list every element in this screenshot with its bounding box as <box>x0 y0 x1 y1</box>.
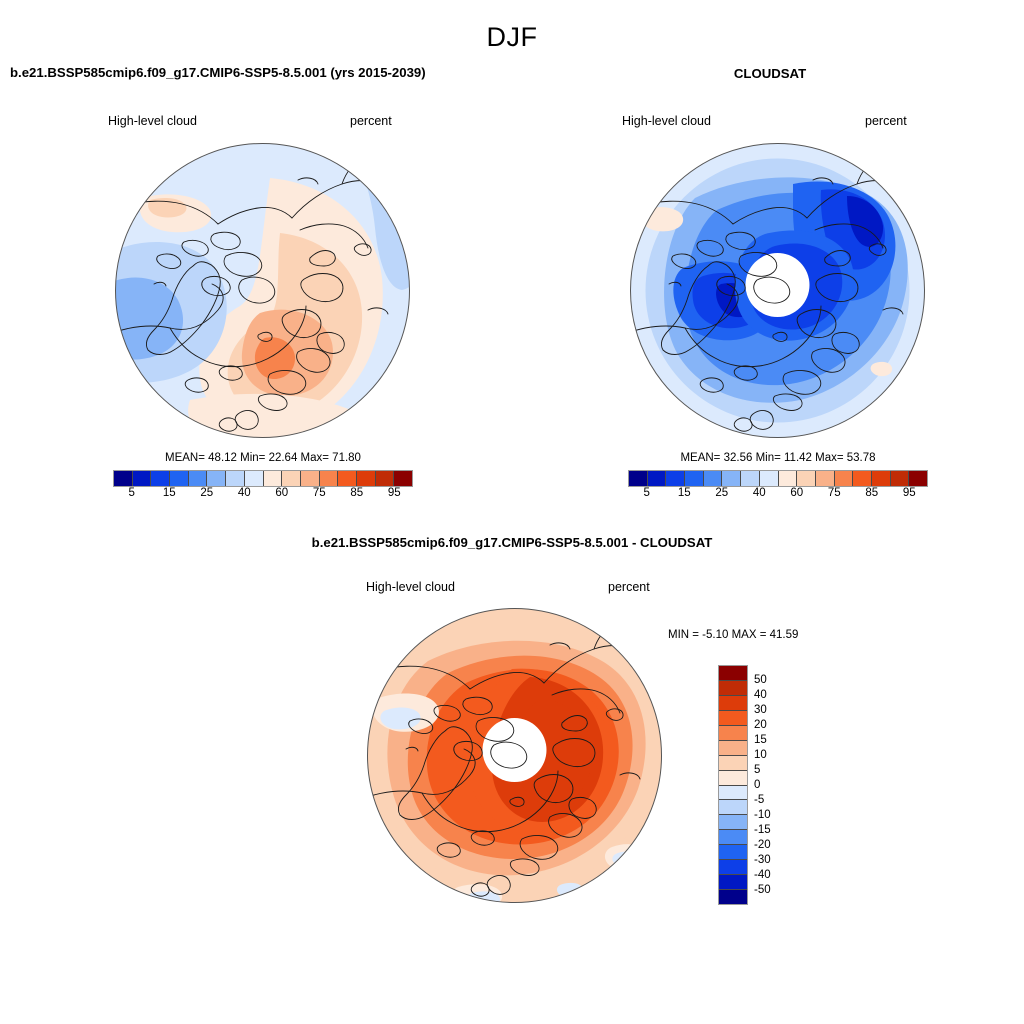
obs-colorbar: 515254060758595 <box>628 470 928 505</box>
model-panel-title: b.e21.BSSP585cmip6.f09_g17.CMIP6-SSP5-8.… <box>10 65 426 80</box>
colorbar-segment <box>170 471 189 486</box>
difference-colorbar-strip <box>718 665 748 905</box>
colorbar-tick-label: -20 <box>754 839 771 851</box>
colorbar-tick-label: 5 <box>754 764 760 776</box>
obs-stats: MEAN= 32.56 Min= 11.42 Max= 53.78 <box>628 452 928 464</box>
model-variable-label: High-level cloud <box>108 114 197 128</box>
colorbar-segment <box>151 471 170 486</box>
colorbar-tick-label: 15 <box>163 487 176 499</box>
colorbar-segment <box>719 771 747 786</box>
colorbar-segment <box>835 471 854 486</box>
colorbar-segment <box>719 741 747 756</box>
colorbar-segment <box>719 666 747 681</box>
colorbar-segment <box>394 471 412 486</box>
colorbar-segment <box>245 471 264 486</box>
colorbar-tick-label: 25 <box>200 487 213 499</box>
colorbar-segment <box>719 875 747 890</box>
colorbar-segment <box>719 845 747 860</box>
colorbar-segment <box>719 786 747 801</box>
colorbar-segment <box>779 471 798 486</box>
colorbar-tick-label: 95 <box>388 487 401 499</box>
colorbar-segment <box>872 471 891 486</box>
colorbar-segment <box>719 815 747 830</box>
colorbar-segment <box>629 471 648 486</box>
difference-stats: MIN = -5.10 MAX = 41.59 <box>668 629 798 641</box>
colorbar-tick-label: 95 <box>903 487 916 499</box>
obs-units-label: percent <box>865 114 907 128</box>
colorbar-segment <box>719 756 747 771</box>
colorbar-segment <box>666 471 685 486</box>
colorbar-tick-label: 75 <box>828 487 841 499</box>
colorbar-segment <box>719 800 747 815</box>
colorbar-tick-label: 50 <box>754 674 767 686</box>
difference-panel-title: b.e21.BSSP585cmip6.f09_g17.CMIP6-SSP5-8.… <box>0 535 1024 550</box>
colorbar-segment <box>719 890 747 904</box>
colorbar-segment <box>909 471 927 486</box>
difference-colorbar-ticks: 50403020151050-5-10-15-20-30-40-50 <box>754 665 814 905</box>
colorbar-segment <box>301 471 320 486</box>
model-colorbar: 515254060758595 <box>113 470 413 505</box>
season-title: DJF <box>0 22 1024 53</box>
model-colorbar-strip <box>113 470 413 487</box>
model-stats: MEAN= 48.12 Min= 22.64 Max= 71.80 <box>113 452 413 464</box>
colorbar-tick-label: 0 <box>754 779 760 791</box>
difference-colorbar: 50403020151050-5-10-15-20-30-40-50 <box>718 665 748 905</box>
colorbar-segment <box>797 471 816 486</box>
colorbar-tick-label: 60 <box>790 487 803 499</box>
colorbar-segment <box>722 471 741 486</box>
colorbar-segment <box>741 471 760 486</box>
colorbar-tick-label: 40 <box>753 487 766 499</box>
colorbar-tick-label: 40 <box>754 689 767 701</box>
colorbar-tick-label: 25 <box>715 487 728 499</box>
model-polar-map <box>110 138 415 443</box>
colorbar-segment <box>685 471 704 486</box>
obs-panel-title: CLOUDSAT <box>620 66 920 81</box>
colorbar-segment <box>704 471 723 486</box>
colorbar-tick-label: 40 <box>238 487 251 499</box>
colorbar-segment <box>719 711 747 726</box>
obs-colorbar-ticks: 515254060758595 <box>628 487 928 505</box>
colorbar-tick-label: 60 <box>275 487 288 499</box>
model-colorbar-ticks: 515254060758595 <box>113 487 413 505</box>
colorbar-segment <box>760 471 779 486</box>
colorbar-segment <box>719 726 747 741</box>
colorbar-tick-label: 5 <box>644 487 650 499</box>
obs-colorbar-strip <box>628 470 928 487</box>
colorbar-segment <box>320 471 339 486</box>
colorbar-segment <box>376 471 395 486</box>
colorbar-tick-label: -40 <box>754 869 771 881</box>
obs-variable-label: High-level cloud <box>622 114 711 128</box>
colorbar-segment <box>114 471 133 486</box>
colorbar-segment <box>648 471 667 486</box>
colorbar-segment <box>338 471 357 486</box>
colorbar-tick-label: 15 <box>754 734 767 746</box>
colorbar-tick-label: -50 <box>754 884 771 896</box>
colorbar-segment <box>264 471 283 486</box>
obs-polar-map <box>625 138 930 443</box>
colorbar-tick-label: -30 <box>754 854 771 866</box>
model-units-label: percent <box>350 114 392 128</box>
colorbar-tick-label: 85 <box>350 487 363 499</box>
difference-variable-label: High-level cloud <box>366 580 455 594</box>
colorbar-tick-label: 15 <box>678 487 691 499</box>
colorbar-segment <box>719 696 747 711</box>
colorbar-segment <box>719 830 747 845</box>
colorbar-segment <box>719 860 747 875</box>
colorbar-segment <box>357 471 376 486</box>
difference-polar-map <box>362 603 667 908</box>
colorbar-segment <box>282 471 301 486</box>
colorbar-tick-label: 10 <box>754 749 767 761</box>
colorbar-segment <box>207 471 226 486</box>
colorbar-segment <box>189 471 208 486</box>
colorbar-tick-label: 30 <box>754 704 767 716</box>
colorbar-tick-label: 85 <box>865 487 878 499</box>
colorbar-tick-label: 20 <box>754 719 767 731</box>
difference-units-label: percent <box>608 580 650 594</box>
colorbar-segment <box>226 471 245 486</box>
colorbar-segment <box>719 681 747 696</box>
colorbar-tick-label: -15 <box>754 824 771 836</box>
colorbar-tick-label: 75 <box>313 487 326 499</box>
colorbar-tick-label: -10 <box>754 809 771 821</box>
colorbar-tick-label: 5 <box>129 487 135 499</box>
colorbar-segment <box>853 471 872 486</box>
colorbar-tick-label: -5 <box>754 794 764 806</box>
colorbar-segment <box>891 471 910 486</box>
colorbar-segment <box>816 471 835 486</box>
colorbar-segment <box>133 471 152 486</box>
